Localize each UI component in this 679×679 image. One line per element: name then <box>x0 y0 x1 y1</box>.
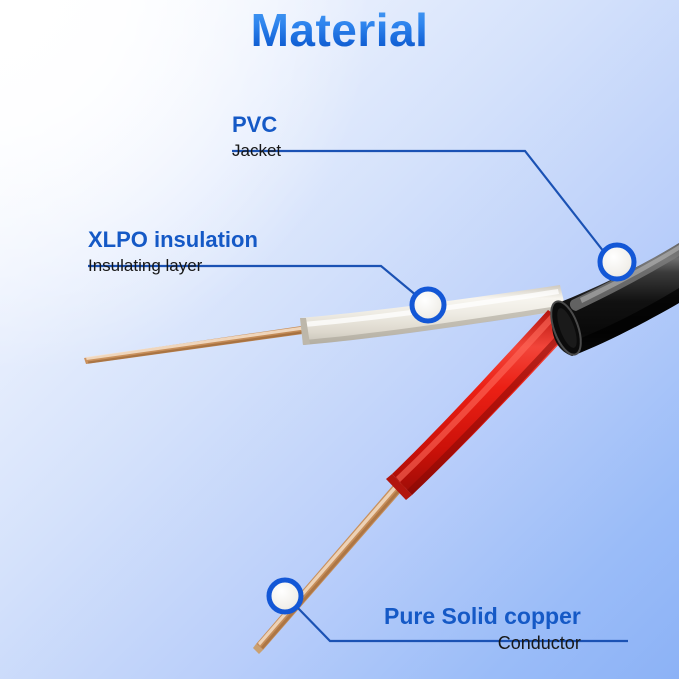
red-insulated-conductor <box>386 310 574 500</box>
callout-pvc-title: PVC <box>232 113 281 137</box>
callout-marker-copper[interactable] <box>269 580 301 612</box>
material-diagram: Material PVC Jacket XLPO insulation Insu… <box>0 0 679 679</box>
leader-line-pvc <box>232 151 604 252</box>
callout-pvc-subtitle: Jacket <box>232 137 281 161</box>
page-title: Material <box>0 4 679 57</box>
callout-marker-xlpo[interactable] <box>412 289 444 321</box>
callout-marker-pvc[interactable] <box>600 245 634 279</box>
callout-copper: Pure Solid copper Conductor <box>384 604 581 655</box>
copper-conductor-white-branch <box>84 325 310 364</box>
callout-copper-title: Pure Solid copper <box>384 604 581 629</box>
cable-photo <box>0 0 679 679</box>
callout-xlpo-subtitle: Insulating layer <box>88 252 258 276</box>
callout-copper-subtitle: Conductor <box>384 629 581 655</box>
callout-xlpo: XLPO insulation Insulating layer <box>88 228 258 276</box>
leader-lines <box>88 151 628 641</box>
callout-pvc: PVC Jacket <box>232 113 281 161</box>
callout-xlpo-title: XLPO insulation <box>88 228 258 252</box>
